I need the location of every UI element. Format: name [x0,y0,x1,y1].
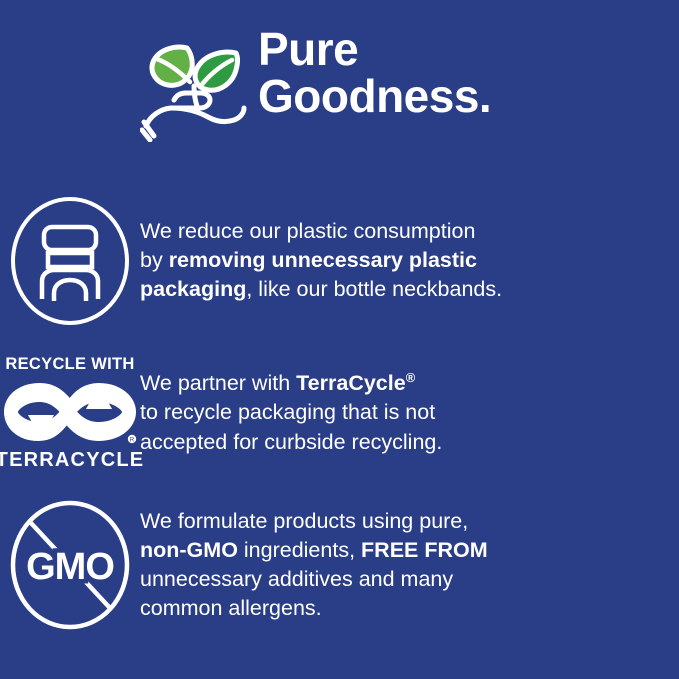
plastic-line1: We reduce our plastic consumption [140,219,475,243]
gmo-line2-bold-b: FREE FROM [361,538,488,562]
terracycle-registered-superscript: ® [406,370,416,385]
feature-row-terracycle: RECYCLE WITH R TERRACYCLE We partner wit… [0,348,679,478]
header: Pure Goodness. [0,22,679,162]
no-gmo-icon: GMO [0,499,140,631]
page-title-line-2: Goodness. [258,73,491,120]
terracycle-badge: RECYCLE WITH R TERRACYCLE [0,356,143,470]
page-title-line-1: Pure [258,26,491,73]
terracycle-badge-top-text: RECYCLE WITH [5,356,134,373]
feature-text-terracycle: We partner with TerraCycle® to recycle p… [140,369,679,457]
terracycle-badge-bottom-text: TERRACYCLE [0,450,144,470]
page-title: Pure Goodness. [258,22,491,121]
pure-goodness-infographic: Pure Goodness. We reduce our plastic con… [0,0,679,679]
gmo-line2-normal: ingredients, [238,538,361,562]
feature-row-plastic: We reduce our plastic consumption by rem… [0,193,679,328]
plastic-line2-normal: by [140,248,169,272]
plastic-line3-bold: packaging [140,277,246,301]
terracycle-line2: to recycle packaging that is not [140,400,435,424]
terracycle-line1-normal: We partner with [140,371,296,395]
feature-text-plastic: We reduce our plastic consumption by rem… [140,217,679,305]
gmo-line3: unnecessary additives and many [140,567,453,591]
plastic-line3-normal: , like our bottle neckbands. [246,277,502,301]
terracycle-registered-mark: R [130,437,135,443]
hand-holding-sprout-icon [140,30,250,142]
feature-row-gmo: GMO We formulate products using pure, no… [0,495,679,635]
feature-text-gmo: We formulate products using pure, non-GM… [140,507,679,624]
gmo-line1: We formulate products using pure, [140,509,468,533]
terracycle-recycle-logo: RECYCLE WITH R TERRACYCLE [0,356,140,470]
terracycle-line1-bold: TerraCycle [296,371,406,395]
gmo-line2-bold-a: non-GMO [140,538,238,562]
plastic-line2-bold: removing unnecessary plastic [169,248,477,272]
bottle-neckband-icon [0,195,140,327]
infinity-loop-arrows-icon: R [0,377,142,447]
terracycle-line3: accepted for curbside recycling. [140,430,442,454]
no-gmo-icon-label: GMO [26,546,114,588]
gmo-line4: common allergens. [140,596,322,620]
